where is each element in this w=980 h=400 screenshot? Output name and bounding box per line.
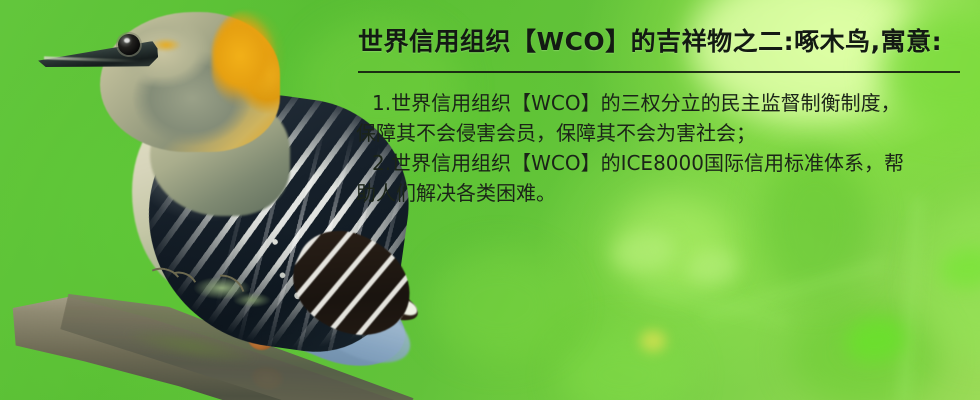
banner-title: 世界信用组织【WCO】的吉祥物之二:啄木鸟,寓意:: [358, 27, 942, 57]
list-item: 助人们解决各类困难。: [356, 178, 976, 208]
title-underline: [358, 71, 960, 73]
bird-eye: [118, 34, 140, 55]
wco-mascot-banner: 世界信用组织【WCO】的吉祥物之二:啄木鸟,寓意: 1.世界信用组织【WCO】的…: [0, 0, 980, 400]
bird-crown-yellow: [212, 10, 290, 106]
list-item: 保障其不会侵害会员，保障其不会为害社会；: [356, 118, 976, 148]
bird-eye-highlight: [124, 38, 130, 43]
banner-description-list: 1.世界信用组织【WCO】的三权分立的民主监督制衡制度， 保障其不会侵害会员，保…: [356, 88, 976, 208]
list-item: 2.世界信用组织【WCO】的ICE8000国际信用标准体系，帮: [356, 148, 976, 178]
list-item: 1.世界信用组织【WCO】的三权分立的民主监督制衡制度，: [356, 88, 976, 118]
banner-text-panel: 世界信用组织【WCO】的吉祥物之二:啄木鸟,寓意: 1.世界信用组织【WCO】的…: [356, 0, 980, 400]
